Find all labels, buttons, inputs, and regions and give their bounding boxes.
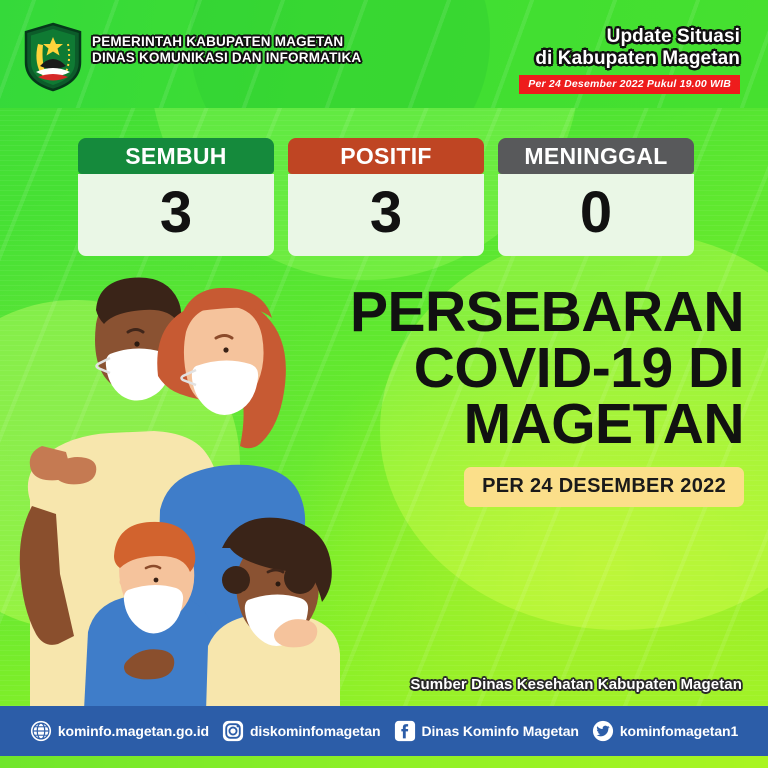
main-title-block: PERSEBARAN COVID-19 DI MAGETAN PER 24 DE… xyxy=(304,285,744,507)
title-line-3: MAGETAN xyxy=(304,397,744,453)
instagram-icon xyxy=(222,720,244,742)
footer-label-twitter: kominfomagetan1 xyxy=(620,723,738,739)
stat-card-sembuh: SEMBUH 3 xyxy=(78,138,274,256)
update-block: Update Situasi di Kabupaten Magetan Per … xyxy=(519,26,740,94)
globe-icon xyxy=(30,720,52,742)
header-bar: PEMERINTAH KABUPATEN MAGETAN DINAS KOMUN… xyxy=(0,0,768,108)
footer-item-instagram[interactable]: diskominfomagetan xyxy=(222,720,381,742)
facebook-icon xyxy=(394,720,416,742)
statistics-row: SEMBUH 3 POSITIF 3 MENINGGAL 0 xyxy=(78,138,694,256)
update-title: Update Situasi di Kabupaten Magetan xyxy=(519,26,740,69)
footer-label-facebook: Dinas Kominfo Magetan xyxy=(422,723,579,739)
family-illustration xyxy=(0,270,340,710)
poster-canvas: PEMERINTAH KABUPATEN MAGETAN DINAS KOMUN… xyxy=(0,0,768,768)
footer-label-instagram: diskominfomagetan xyxy=(250,723,381,739)
footer-bottom-strip xyxy=(0,756,768,768)
gov-line-2: DINAS KOMUNIKASI DAN INFORMATIKA xyxy=(92,50,361,66)
update-line-1: Update Situasi xyxy=(519,26,740,48)
twitter-icon xyxy=(592,720,614,742)
stat-label-sembuh: SEMBUH xyxy=(78,138,274,174)
update-line-2: di Kabupaten Magetan xyxy=(519,48,740,70)
stat-value-positif: 3 xyxy=(288,174,484,256)
source-attribution: Sumber Dinas Kesehatan Kabupaten Magetan xyxy=(410,676,742,693)
stat-label-meninggal: MENINGGAL xyxy=(498,138,694,174)
stat-card-meninggal: MENINGGAL 0 xyxy=(498,138,694,256)
title-line-1: PERSEBARAN xyxy=(304,285,744,341)
government-title: PEMERINTAH KABUPATEN MAGETAN DINAS KOMUN… xyxy=(92,34,361,66)
footer-bar: kominfo.magetan.go.id diskominfomagetan … xyxy=(0,706,768,756)
stat-label-positif: POSITIF xyxy=(288,138,484,174)
gov-line-1: PEMERINTAH KABUPATEN MAGETAN xyxy=(92,34,361,50)
title-line-2: COVID-19 DI xyxy=(304,341,744,397)
stat-card-positif: POSITIF 3 xyxy=(288,138,484,256)
footer-label-website: kominfo.magetan.go.id xyxy=(58,723,209,739)
stat-value-sembuh: 3 xyxy=(78,174,274,256)
update-timestamp-badge: Per 24 Desember 2022 Pukul 19.00 WIB xyxy=(519,75,740,94)
stat-value-meninggal: 0 xyxy=(498,174,694,256)
footer-item-website[interactable]: kominfo.magetan.go.id xyxy=(30,720,209,742)
magetan-emblem-icon xyxy=(22,22,84,92)
date-badge: PER 24 DESEMBER 2022 xyxy=(464,467,744,507)
footer-item-twitter[interactable]: kominfomagetan1 xyxy=(592,720,738,742)
footer-item-facebook[interactable]: Dinas Kominfo Magetan xyxy=(394,720,579,742)
